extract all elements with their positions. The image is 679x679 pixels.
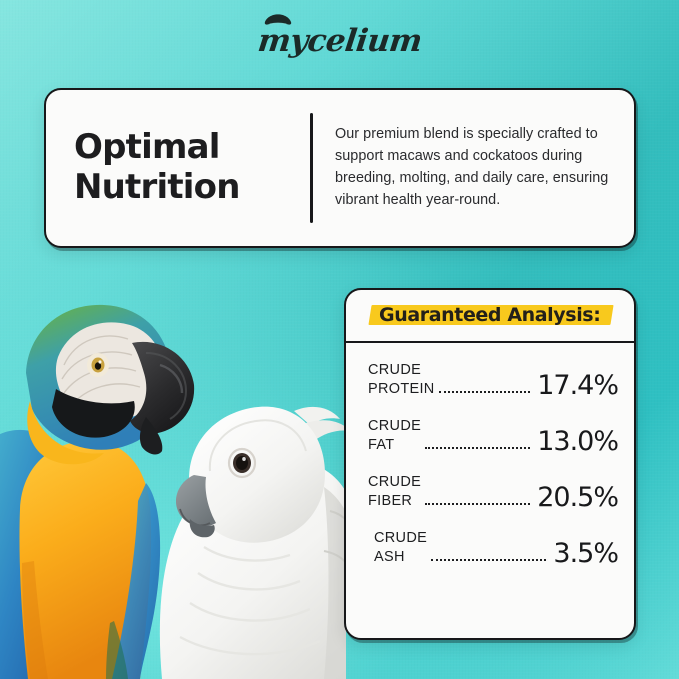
analysis-dot-leader — [431, 559, 546, 561]
intro-card: Optimal Nutrition Our premium blend is s… — [44, 88, 636, 248]
analysis-value: 3.5% — [553, 540, 618, 568]
analysis-dot-leader — [439, 391, 531, 393]
guaranteed-analysis-card: Guaranteed Analysis: CRUDE PROTEIN 17.4%… — [344, 288, 636, 640]
analysis-row-list: CRUDE PROTEIN 17.4% CRUDE FAT 13.0% CRUD… — [346, 343, 634, 578]
analysis-value: 20.5% — [537, 484, 618, 512]
brand-logo: mycelium — [0, 26, 679, 72]
analysis-label: CRUDE ASH — [368, 529, 427, 568]
brand-logo-inner: mycelium — [258, 26, 422, 57]
analysis-header: Guaranteed Analysis: — [346, 290, 634, 343]
intro-vertical-divider — [310, 113, 313, 223]
analysis-row-crude-fat: CRUDE FAT 13.0% — [368, 417, 618, 456]
intro-card-layout: Optimal Nutrition Our premium blend is s… — [46, 90, 634, 246]
analysis-title-wrap: Guaranteed Analysis: — [370, 302, 609, 329]
cockatoo-illustration — [160, 407, 346, 679]
birds-photo — [0, 261, 346, 679]
analysis-row-crude-fiber: CRUDE FIBER 20.5% — [368, 473, 618, 512]
analysis-label: CRUDE PROTEIN — [368, 361, 435, 400]
analysis-row-crude-protein: CRUDE PROTEIN 17.4% — [368, 361, 618, 400]
analysis-dot-leader — [425, 503, 530, 505]
page-title: Optimal Nutrition — [74, 128, 306, 208]
product-infographic: mycelium — [0, 0, 679, 679]
intro-description: Our premium blend is specially crafted t… — [335, 124, 618, 212]
analysis-value: 13.0% — [537, 428, 618, 456]
analysis-label: CRUDE FAT — [368, 417, 421, 456]
analysis-label: CRUDE FIBER — [368, 473, 421, 512]
analysis-title: Guaranteed Analysis: — [379, 304, 600, 326]
brand-name: mycelium — [256, 26, 423, 57]
analysis-dot-leader — [425, 447, 530, 449]
analysis-row-crude-ash: CRUDE ASH 3.5% — [368, 529, 618, 568]
macaw-illustration — [0, 305, 194, 679]
analysis-value: 17.4% — [537, 372, 618, 400]
